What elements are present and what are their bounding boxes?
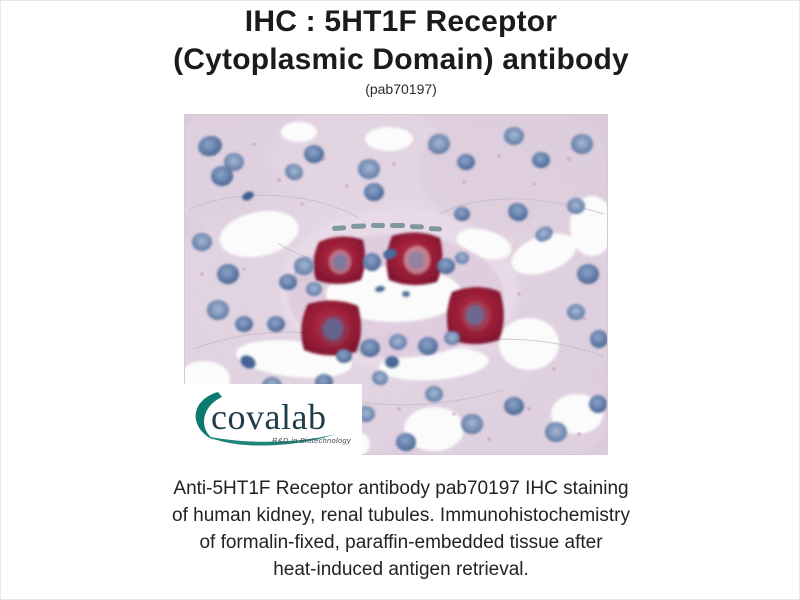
figure-caption: Anti-5HT1F Receptor antibody pab70197 IH… <box>61 475 741 583</box>
covalab-logo-graphic: covalab R&D in Biotechnology <box>184 384 362 455</box>
page-title: IHC : 5HT1F Receptor (Cytoplasmic Domain… <box>1 3 800 98</box>
caption-line-4: heat-induced antigen retrieval. <box>61 556 741 583</box>
title-line-secondary: (Cytoplasmic Domain) antibody <box>1 41 800 79</box>
title-line-primary: IHC : 5HT1F Receptor <box>1 3 800 41</box>
caption-line-1: Anti-5HT1F Receptor antibody pab70197 IH… <box>61 475 741 502</box>
logo-tagline: R&D in Biotechnology <box>272 436 352 445</box>
covalab-logo: covalab R&D in Biotechnology <box>184 384 362 455</box>
catalog-number: (pab70197) <box>1 80 800 98</box>
caption-line-3: of formalin-fixed, paraffin-embedded tis… <box>61 529 741 556</box>
caption-line-2: of human kidney, renal tubules. Immunohi… <box>61 502 741 529</box>
figure-page: IHC : 5HT1F Receptor (Cytoplasmic Domain… <box>0 0 800 600</box>
logo-wordmark: covalab <box>211 397 326 437</box>
